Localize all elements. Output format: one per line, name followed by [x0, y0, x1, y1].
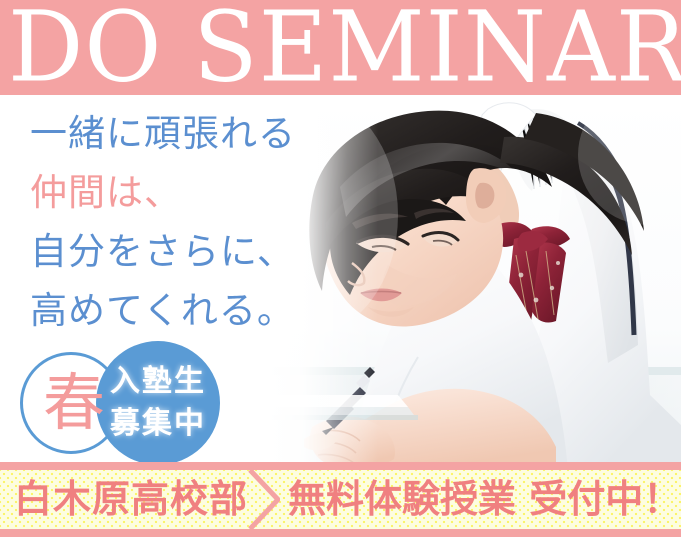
- catch-copy-line-2: 仲間は、: [30, 163, 296, 222]
- header-band: DO SEMINAR: [0, 0, 681, 95]
- recruit-line-2: 募集中: [110, 403, 206, 445]
- catch-copy-line-1: 一緒に頑張れる: [30, 104, 296, 163]
- recruit-text: 入塾生 募集中: [96, 341, 220, 465]
- bottom-strip-inner: 白木原高校部 無料体験授業 受付中！: [0, 470, 681, 529]
- bottom-strip: 白木原高校部 無料体験授業 受付中！: [0, 462, 681, 537]
- recruit-line-1: 入塾生: [110, 361, 206, 403]
- catch-copy: 一緒に頑張れる 仲間は、 自分をさらに、 高めてくれる。: [30, 104, 296, 340]
- catch-copy-line-3: 自分をさらに、: [30, 222, 296, 281]
- offer-label: 無料体験授業 受付中！: [288, 471, 681, 528]
- recruitment-badge: 春 入塾生 募集中: [14, 340, 244, 470]
- student-writing-photo: [268, 95, 681, 470]
- page-title: DO SEMINAR: [8, 0, 678, 95]
- promotional-banner: DO SEMINAR 一緒に頑張れる 仲間は、 自分をさらに、 高めてくれる。 …: [0, 0, 681, 537]
- catch-copy-line-4: 高めてくれる。: [30, 281, 296, 340]
- school-label: 白木原高校部: [14, 471, 248, 528]
- chevron-right-icon: [248, 470, 280, 529]
